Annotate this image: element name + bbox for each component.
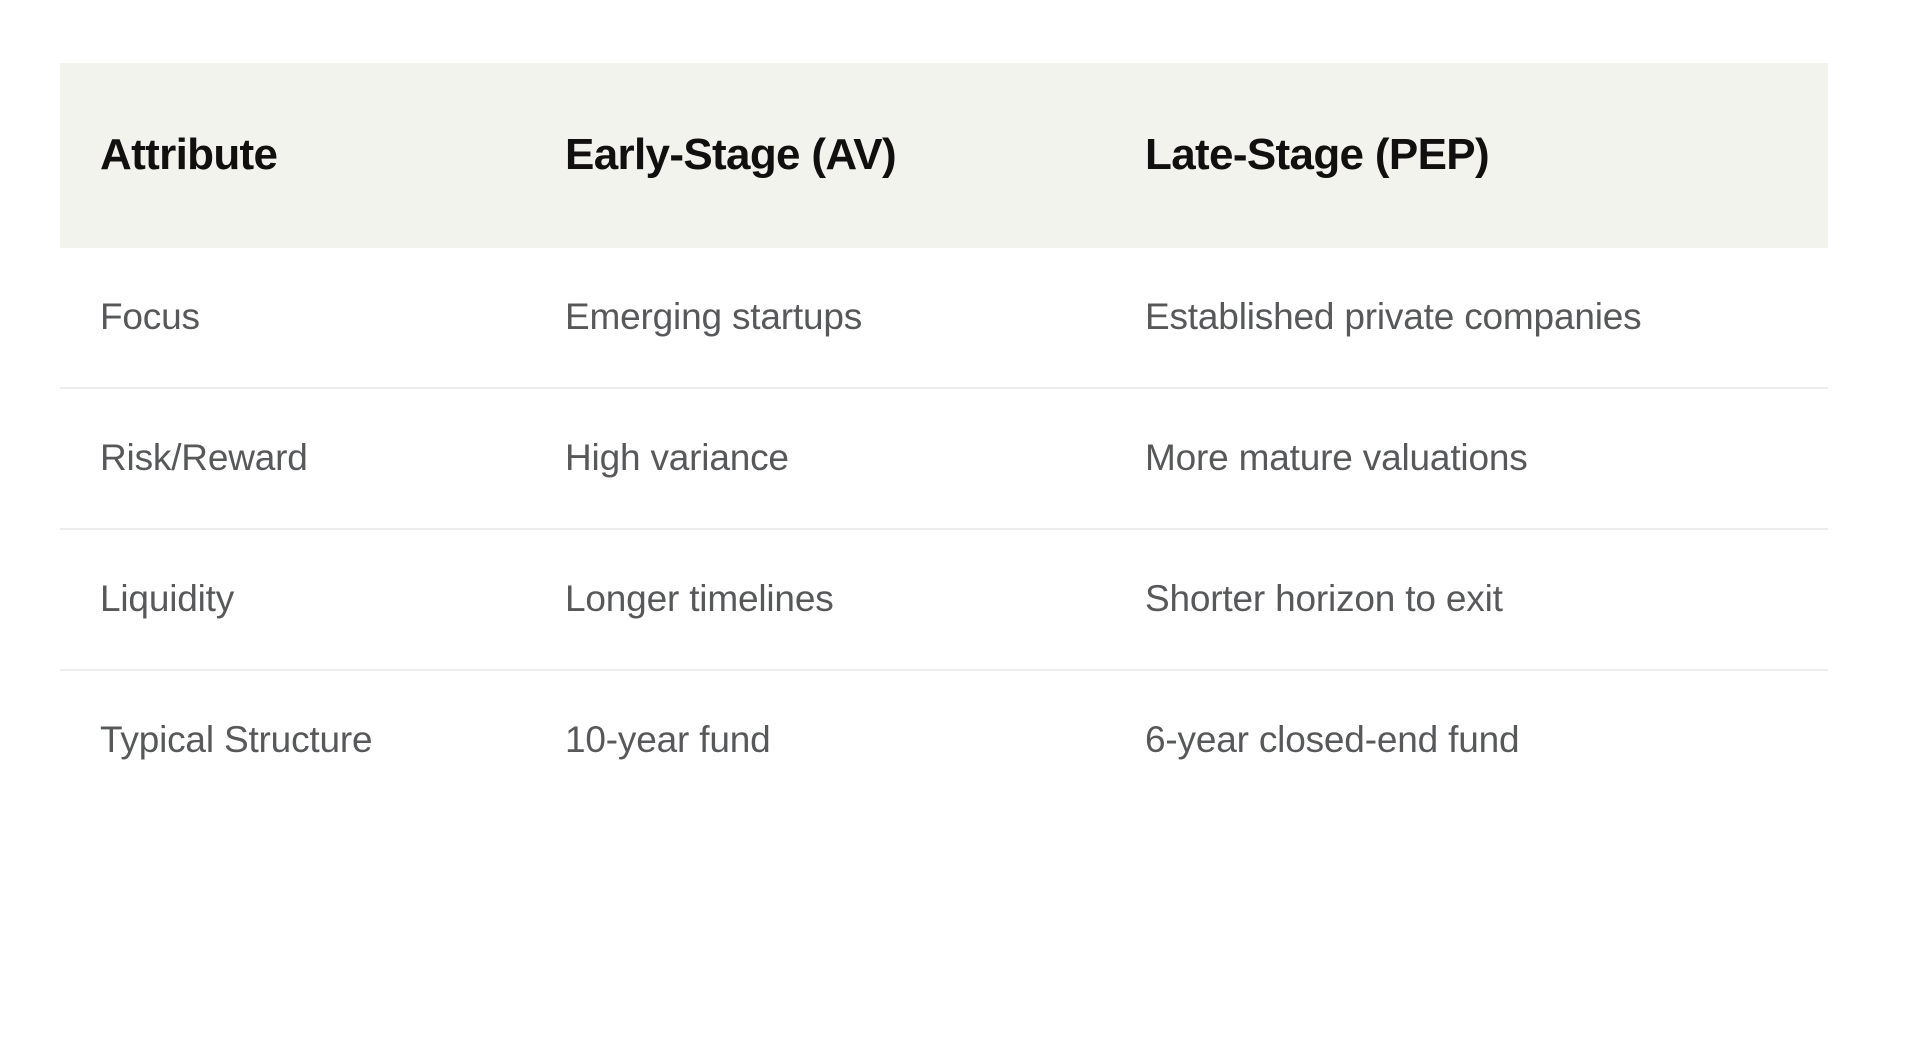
cell-attribute: Liquidity (60, 529, 525, 670)
table-row: Risk/Reward High variance More mature va… (60, 388, 1828, 529)
table-body: Focus Emerging startups Established priv… (60, 248, 1828, 810)
cell-early-stage: Emerging startups (525, 248, 1105, 388)
cell-attribute: Risk/Reward (60, 388, 525, 529)
table-row: Focus Emerging startups Established priv… (60, 248, 1828, 388)
column-header-late-stage: Late-Stage (PEP) (1105, 63, 1828, 248)
comparison-table: Attribute Early-Stage (AV) Late-Stage (P… (60, 63, 1828, 810)
table-row: Liquidity Longer timelines Shorter horiz… (60, 529, 1828, 670)
cell-early-stage: High variance (525, 388, 1105, 529)
cell-late-stage: 6-year closed-end fund (1105, 670, 1828, 810)
table-header: Attribute Early-Stage (AV) Late-Stage (P… (60, 63, 1828, 248)
cell-early-stage: 10-year fund (525, 670, 1105, 810)
cell-attribute: Typical Structure (60, 670, 525, 810)
cell-early-stage: Longer timelines (525, 529, 1105, 670)
column-header-attribute: Attribute (60, 63, 525, 248)
cell-late-stage: Shorter horizon to exit (1105, 529, 1828, 670)
column-header-early-stage: Early-Stage (AV) (525, 63, 1105, 248)
table-header-row: Attribute Early-Stage (AV) Late-Stage (P… (60, 63, 1828, 248)
table-row: Typical Structure 10-year fund 6-year cl… (60, 670, 1828, 810)
page-root: Attribute Early-Stage (AV) Late-Stage (P… (0, 0, 1920, 1043)
cell-late-stage: Established private companies (1105, 248, 1828, 388)
cell-attribute: Focus (60, 248, 525, 388)
cell-late-stage: More mature valuations (1105, 388, 1828, 529)
comparison-table-container: Attribute Early-Stage (AV) Late-Stage (P… (60, 63, 1828, 810)
